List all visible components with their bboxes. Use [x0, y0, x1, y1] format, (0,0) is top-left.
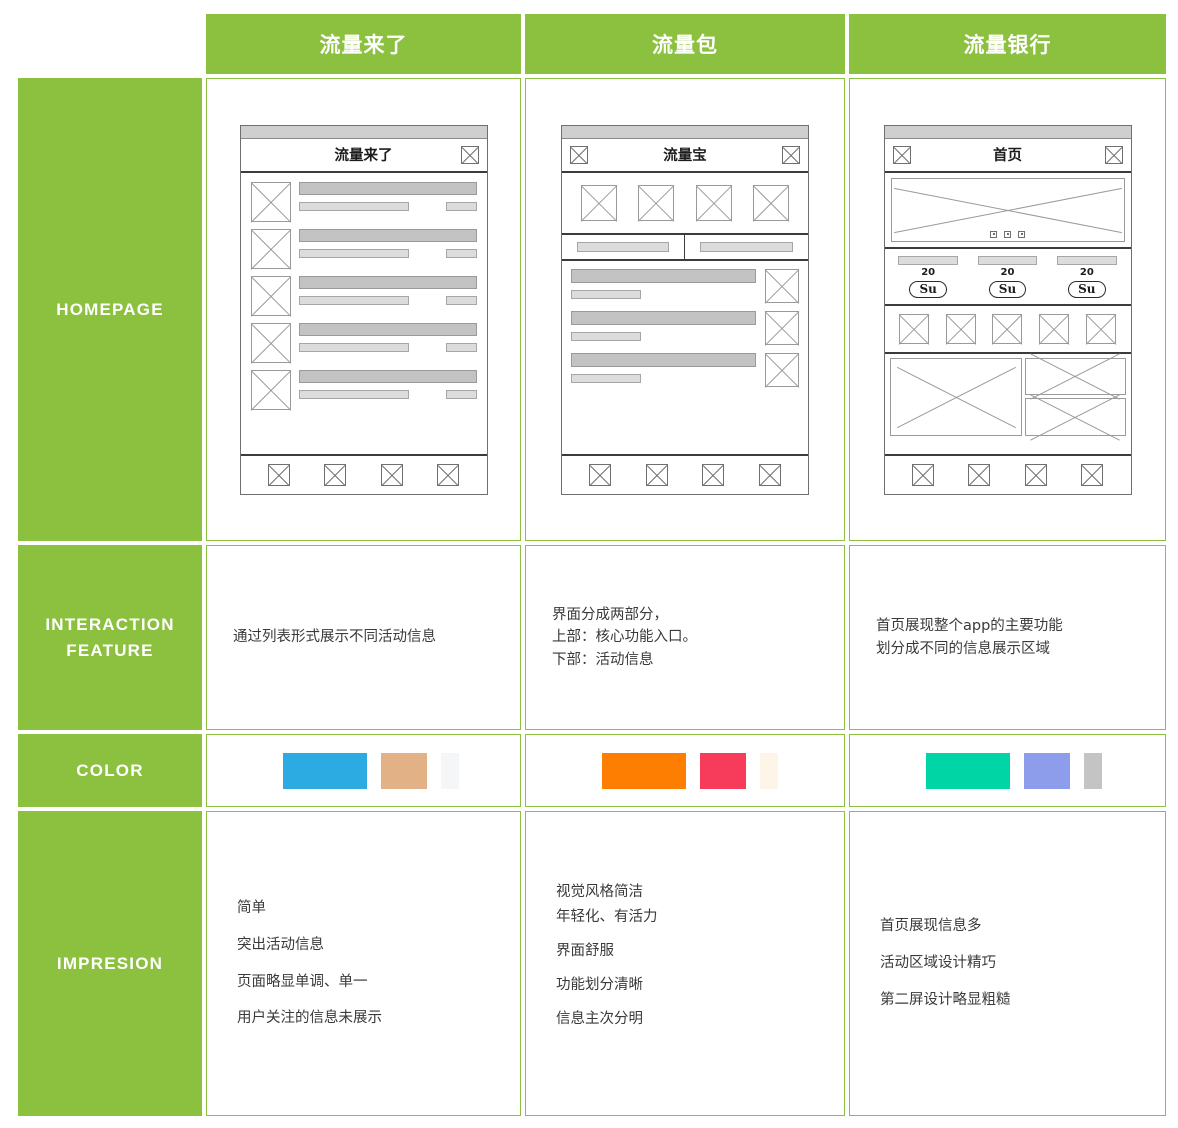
list-item-lines [299, 229, 477, 258]
cell-homepage-col2: 流量宝 [525, 78, 845, 541]
impression-item: 界面舒服 [556, 942, 814, 961]
impression-item: 年轻化、有活力 [556, 908, 814, 927]
color-swatch-primary [283, 753, 367, 789]
cell-color-col3 [849, 734, 1166, 807]
list-item-subline [299, 202, 477, 211]
title-bar [299, 229, 477, 242]
color-swatch-secondary [381, 753, 427, 789]
feed-item-lines [571, 269, 756, 299]
impression-item: 信息主次分明 [556, 1010, 814, 1029]
subtitle-bar [299, 343, 409, 352]
content-pane-column [1025, 358, 1125, 436]
placeholder-icon [249, 146, 267, 164]
impression-list-col1: 简单 突出活动信息 页面略显单调、单一 用户关注的信息未展示 [207, 812, 520, 1115]
tag-bar [446, 249, 476, 258]
tag-bar [446, 343, 476, 352]
quick-entry-icon[interactable] [899, 314, 929, 344]
quick-entry-row [885, 306, 1131, 354]
promo-label-bar [1057, 256, 1117, 265]
tab-icon[interactable] [268, 464, 290, 486]
title-bar [571, 311, 756, 325]
phone-mockup: 流量来了 [240, 125, 488, 495]
image-placeholder-icon [251, 323, 291, 363]
feed-item-lines [571, 311, 756, 341]
subtitle-bar [571, 290, 641, 299]
feed-item-lines [571, 353, 756, 383]
subtitle-bar [571, 332, 641, 341]
wireframe-1: 流量来了 [207, 79, 520, 540]
promo-item[interactable]: 20 Su [892, 256, 963, 298]
comparison-table-board: 流量来了 流量包 流量银行 HOMEPAGE INTERACTION FEATU… [0, 0, 1178, 1128]
promo-number: 20 [1001, 268, 1015, 278]
app-title: 首页 [911, 144, 1105, 165]
list-item[interactable] [241, 269, 487, 316]
text-bar [700, 242, 793, 252]
content-area [241, 173, 487, 454]
interaction-feature-text: 首页展现整个app的主要功能 划分成不同的信息展示区域 [876, 615, 1063, 660]
image-placeholder-icon [765, 311, 799, 345]
menu-icon[interactable] [893, 146, 911, 164]
content-pane-large[interactable] [890, 358, 1023, 436]
interaction-feature-text-col3: 首页展现整个app的主要功能 划分成不同的信息展示区域 [850, 546, 1165, 729]
wireframe-2: 流量宝 [526, 79, 844, 540]
cell-color-col2 [525, 734, 845, 807]
cell-impression-col1: 简单 突出活动信息 页面略显单调、单一 用户关注的信息未展示 [206, 811, 521, 1116]
tag-bar [446, 296, 476, 305]
carousel-dot[interactable] [990, 231, 997, 238]
cell-impression-col3: 首页展现信息多 活动区域设计精巧 第二屏设计略显粗糙 [849, 811, 1166, 1116]
menu-icon[interactable] [570, 146, 588, 164]
split-banner-right[interactable] [685, 235, 808, 259]
image-placeholder-icon [251, 182, 291, 222]
row-label-text-line2: FEATURE [66, 641, 153, 660]
tab-icon[interactable] [702, 464, 724, 486]
tab-icon[interactable] [1081, 464, 1103, 486]
bottom-tab-bar [241, 454, 487, 494]
subtitle-bar [299, 249, 409, 258]
subtitle-bar [299, 202, 409, 211]
promo-item[interactable]: 20 Su [972, 256, 1043, 298]
row-label-color: COLOR [18, 734, 202, 807]
tab-icon[interactable] [381, 464, 403, 486]
impression-item: 用户关注的信息未展示 [237, 1009, 490, 1028]
close-icon[interactable] [461, 146, 479, 164]
list-item[interactable] [241, 222, 487, 269]
app-title-bar: 流量来了 [241, 139, 487, 173]
color-swatch-primary [926, 753, 1010, 789]
phone-mockup: 流量宝 [561, 125, 809, 495]
cell-interaction-col2: 界面分成两部分， 上部：核心功能入口。 下部：活动信息 [525, 545, 845, 730]
quick-entry-icon[interactable] [992, 314, 1022, 344]
color-swatches-col3 [850, 735, 1165, 806]
row-label-homepage: HOMEPAGE [18, 78, 202, 541]
cell-interaction-col3: 首页展现整个app的主要功能 划分成不同的信息展示区域 [849, 545, 1166, 730]
interaction-feature-text-col2: 界面分成两部分， 上部：核心功能入口。 下部：活动信息 [526, 546, 844, 729]
list-item-lines [299, 276, 477, 305]
tag-bar [446, 202, 476, 211]
content-area: 20 Su 20 Su 20 Su [885, 173, 1131, 454]
subtitle-bar [299, 390, 409, 399]
title-bar [299, 323, 477, 336]
column-header-liuliangbao: 流量包 [525, 14, 845, 74]
row-label-text: COLOR [76, 758, 143, 784]
row-label-text: HOMEPAGE [56, 297, 164, 323]
app-title: 流量来了 [267, 144, 461, 165]
row-label-text: INTERACTION FEATURE [45, 612, 174, 663]
impression-item: 功能划分清晰 [556, 976, 814, 995]
impression-list-col2: 视觉风格简洁 年轻化、有活力 界面舒服 功能划分清晰 信息主次分明 [526, 812, 844, 1115]
row-label-impression: IMPRESION [18, 811, 202, 1116]
row-label-interaction-feature: INTERACTION FEATURE [18, 545, 202, 730]
feed-item[interactable] [562, 345, 808, 387]
feature-icon[interactable] [696, 185, 732, 221]
list-item-lines [299, 182, 477, 211]
cell-impression-col2: 视觉风格简洁 年轻化、有活力 界面舒服 功能划分清晰 信息主次分明 [525, 811, 845, 1116]
column-header-liuliangyinhang: 流量银行 [849, 14, 1166, 74]
impression-item: 活动区域设计精巧 [880, 954, 1135, 973]
impression-item: 页面略显单调、单一 [237, 973, 490, 992]
carousel-dots [885, 231, 1131, 238]
color-swatch-tertiary [760, 753, 778, 789]
row-label-text-line1: INTERACTION [45, 615, 174, 634]
quick-entry-icon[interactable] [1039, 314, 1069, 344]
close-icon[interactable] [1105, 146, 1123, 164]
quick-entry-icon[interactable] [1086, 314, 1116, 344]
feature-icon[interactable] [638, 185, 674, 221]
color-swatch-primary [602, 753, 686, 789]
tab-icon[interactable] [437, 464, 459, 486]
title-bar [571, 353, 756, 367]
phone-mockup: 首页 [884, 125, 1132, 495]
bottom-tab-bar [562, 454, 808, 494]
list-item[interactable] [241, 316, 487, 363]
image-placeholder-icon [251, 229, 291, 269]
list-item-subline [299, 249, 477, 258]
column-header-label: 流量来了 [320, 29, 408, 59]
cell-homepage-col3: 首页 [849, 78, 1166, 541]
column-header-label: 流量包 [652, 29, 718, 59]
promo-number: 20 [921, 268, 935, 278]
feature-entry-row [562, 173, 808, 235]
bottom-tab-bar [885, 454, 1131, 494]
tab-icon[interactable] [759, 464, 781, 486]
column-header-liuliangle: 流量来了 [206, 14, 521, 74]
title-bar [299, 182, 477, 195]
cell-homepage-col1: 流量来了 [206, 78, 521, 541]
image-placeholder-icon [251, 276, 291, 316]
app-title: 流量宝 [588, 144, 782, 165]
quick-entry-icon[interactable] [946, 314, 976, 344]
list-item[interactable] [241, 363, 487, 410]
impression-item: 突出活动信息 [237, 936, 490, 955]
status-bar [562, 126, 808, 139]
impression-item: 简单 [237, 899, 490, 918]
row-label-text: IMPRESION [57, 951, 163, 977]
tab-icon[interactable] [968, 464, 990, 486]
tab-icon[interactable] [912, 464, 934, 486]
image-placeholder-icon [765, 353, 799, 387]
cell-color-col1 [206, 734, 521, 807]
color-swatch-tertiary [1084, 753, 1102, 789]
status-bar [885, 126, 1131, 139]
promo-pill: Su [1068, 281, 1105, 298]
text-bar [577, 242, 670, 252]
promo-label-bar [978, 256, 1038, 265]
promo-row: 20 Su 20 Su 20 Su [885, 249, 1131, 306]
feed-item[interactable] [562, 303, 808, 345]
wireframe-3: 首页 [850, 79, 1165, 540]
feature-icon[interactable] [753, 185, 789, 221]
app-title-bar: 流量宝 [562, 139, 808, 173]
list-item[interactable] [241, 175, 487, 222]
color-swatch-tertiary [441, 753, 459, 789]
content-pane-small[interactable] [1025, 398, 1125, 436]
color-swatch-secondary [700, 753, 746, 789]
feature-icon[interactable] [581, 185, 617, 221]
split-banner-left[interactable] [562, 235, 685, 259]
interaction-feature-text: 通过列表形式展示不同活动信息 [233, 626, 436, 648]
tab-icon[interactable] [1025, 464, 1047, 486]
content-area [562, 173, 808, 454]
feed-item[interactable] [562, 261, 808, 303]
app-title-bar: 首页 [885, 139, 1131, 173]
subtitle-bar [571, 374, 641, 383]
list-item-subline [299, 343, 477, 352]
list-item-lines [299, 370, 477, 399]
impression-item: 第二屏设计略显粗糙 [880, 991, 1135, 1010]
tab-icon[interactable] [589, 464, 611, 486]
content-pane-small[interactable] [1025, 358, 1125, 396]
promo-pill: Su [989, 281, 1026, 298]
promo-label-bar [898, 256, 958, 265]
status-bar [241, 126, 487, 139]
title-bar [571, 269, 756, 283]
subtitle-bar [299, 296, 409, 305]
column-header-label: 流量银行 [964, 29, 1052, 59]
interaction-feature-text: 界面分成两部分， 上部：核心功能入口。 下部：活动信息 [552, 604, 697, 671]
cell-interaction-col1: 通过列表形式展示不同活动信息 [206, 545, 521, 730]
promo-number: 20 [1080, 268, 1094, 278]
tab-icon[interactable] [324, 464, 346, 486]
content-panes [885, 354, 1131, 440]
color-swatch-secondary [1024, 753, 1070, 789]
list-item-subline [299, 296, 477, 305]
title-bar [299, 276, 477, 289]
promo-item[interactable]: 20 Su [1051, 256, 1122, 298]
list-item-subline [299, 390, 477, 399]
image-placeholder-icon [251, 370, 291, 410]
comparison-grid: 流量来了 流量包 流量银行 HOMEPAGE INTERACTION FEATU… [12, 14, 1166, 1116]
promo-pill: Su [909, 281, 946, 298]
impression-list-col3: 首页展现信息多 活动区域设计精巧 第二屏设计略显粗糙 [850, 812, 1165, 1115]
carousel-dot[interactable] [1004, 231, 1011, 238]
list-item-lines [299, 323, 477, 352]
title-bar [299, 370, 477, 383]
tab-icon[interactable] [646, 464, 668, 486]
close-icon[interactable] [782, 146, 800, 164]
color-swatches-col1 [207, 735, 520, 806]
impression-item: 视觉风格简洁 [556, 883, 814, 902]
tag-bar [446, 390, 476, 399]
hero-banner[interactable] [885, 173, 1131, 249]
image-placeholder-icon [765, 269, 799, 303]
interaction-feature-text-col1: 通过列表形式展示不同活动信息 [207, 546, 520, 729]
split-banner-row [562, 235, 808, 261]
carousel-dot[interactable] [1018, 231, 1025, 238]
impression-item: 首页展现信息多 [880, 917, 1135, 936]
color-swatches-col2 [526, 735, 844, 806]
